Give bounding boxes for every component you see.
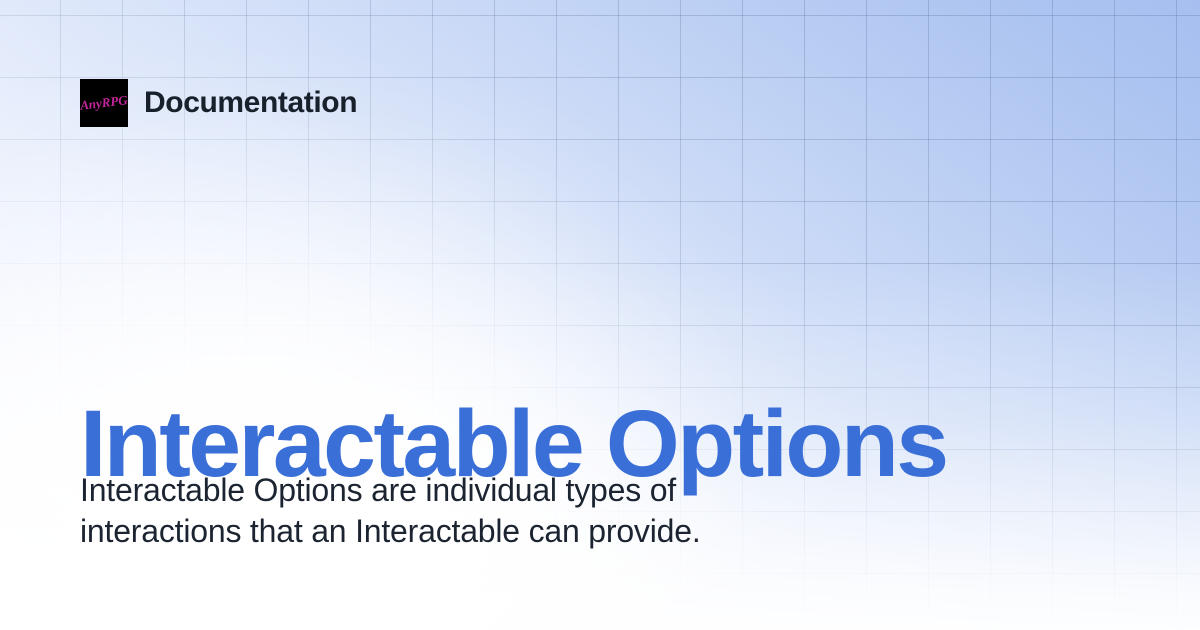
page-description: Interactable Options are individual type…	[80, 470, 880, 552]
brand-header: AnyRPG Documentation	[80, 79, 357, 127]
description-line-1: Interactable Options are individual type…	[80, 470, 880, 511]
brand-title: Documentation	[144, 88, 357, 118]
card-content: AnyRPG Documentation Interactable Option…	[0, 0, 1200, 630]
anyrpg-logo-icon: AnyRPG	[80, 79, 128, 127]
og-card: AnyRPG Documentation Interactable Option…	[0, 0, 1200, 630]
description-line-2: interactions that an Interactable can pr…	[80, 511, 880, 552]
